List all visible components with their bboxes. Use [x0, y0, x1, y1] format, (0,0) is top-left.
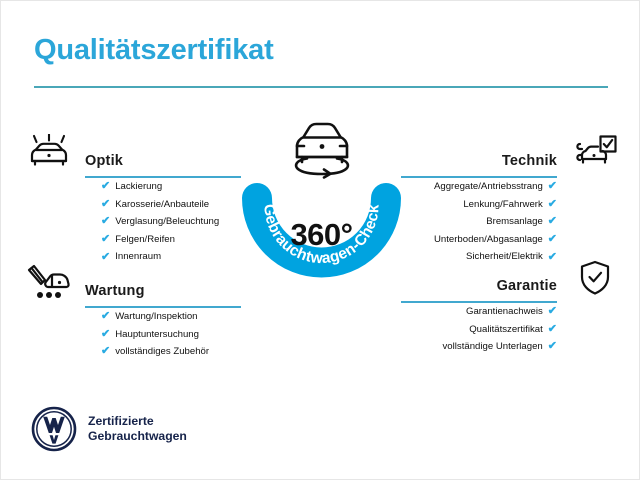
- section-divider-optik: [85, 176, 241, 178]
- section-header-technik: Technik: [401, 134, 619, 178]
- list-item-label: Wartung/Inspektion: [115, 308, 197, 326]
- list-item: ✔Hauptuntersuchung: [101, 326, 241, 344]
- vw-logo: [31, 406, 77, 452]
- list-item: ✔Lackierung: [101, 178, 241, 196]
- shield-check-icon: [571, 259, 619, 299]
- list-item: ✔Karosserie/Anbauteile: [101, 196, 241, 214]
- list-item: Garantienachweis✔: [401, 303, 557, 321]
- section-header-garantie: Garantie: [401, 259, 619, 303]
- list-item-label: Karosserie/Anbauteile: [115, 196, 209, 214]
- badge-center-label: 360°: [229, 217, 414, 253]
- list-item: Unterboden/Abgasanlage✔: [401, 231, 557, 249]
- check-icon: ✔: [101, 329, 110, 340]
- list-item-label: Lackierung: [115, 178, 162, 196]
- section-divider-garantie: [401, 301, 557, 303]
- check-icon: ✔: [101, 216, 110, 227]
- check-icon: ✔: [548, 324, 557, 335]
- certificate-page: Qualitätszertifikat: [0, 0, 640, 480]
- car-lift-checkbox-icon: [571, 134, 619, 174]
- section-header-optik: Optik: [23, 134, 241, 178]
- check-icon: ✔: [548, 341, 557, 352]
- section-divider-technik: [401, 176, 557, 178]
- gebrauchtwagen-check-badge: Gebrauchtwagen-Check: [229, 113, 414, 303]
- section-wartung: Wartung ✔Wartung/Inspektion ✔Hauptunters…: [23, 264, 241, 361]
- check-icon: ✔: [101, 181, 110, 192]
- list-item-label: Verglasung/Beleuchtung: [115, 213, 219, 231]
- list-item: Lenkung/Fahrwerk✔: [401, 196, 557, 214]
- check-icon: ✔: [548, 216, 557, 227]
- checklist-technik: Aggregate/Antriebsstrang✔ Lenkung/Fahrwe…: [401, 178, 557, 266]
- section-title-technik: Technik: [502, 153, 557, 169]
- check-icon: ✔: [101, 199, 110, 210]
- check-icon: ✔: [101, 311, 110, 322]
- list-item-label: Bremsanlage: [486, 213, 543, 231]
- check-icon: ✔: [548, 234, 557, 245]
- list-item: ✔Verglasung/Beleuchtung: [101, 213, 241, 231]
- check-icon: ✔: [548, 181, 557, 192]
- check-icon: ✔: [548, 199, 557, 210]
- title-divider: [34, 86, 608, 88]
- list-item: Bremsanlage✔: [401, 213, 557, 231]
- list-item: ✔vollständiges Zubehör: [101, 343, 241, 361]
- footer-brand: Zertifizierte Gebrauchtwagen: [31, 406, 187, 452]
- section-header-wartung: Wartung: [23, 264, 241, 308]
- section-garantie: Garantie Garantienachweis✔ Qualitätszert…: [401, 259, 619, 356]
- list-item: Qualitätszertifikat✔: [401, 321, 557, 339]
- section-optik: Optik ✔Lackierung ✔Karosserie/Anbauteile…: [23, 134, 241, 266]
- checklist-garantie: Garantienachweis✔ Qualitätszertifikat✔ v…: [401, 303, 557, 356]
- list-item: ✔Felgen/Reifen: [101, 231, 241, 249]
- list-item-label: Felgen/Reifen: [115, 231, 175, 249]
- checklist-optik: ✔Lackierung ✔Karosserie/Anbauteile ✔Verg…: [101, 178, 241, 266]
- section-divider-wartung: [85, 306, 241, 308]
- page-title: Qualitätszertifikat: [34, 33, 608, 67]
- list-item: Aggregate/Antriebsstrang✔: [401, 178, 557, 196]
- list-item: vollständige Unterlagen✔: [401, 338, 557, 356]
- list-item-label: vollständiges Zubehör: [115, 343, 209, 361]
- list-item-label: Qualitätszertifikat: [469, 321, 543, 339]
- list-item-label: vollständige Unterlagen: [443, 338, 543, 356]
- section-title-optik: Optik: [85, 153, 123, 169]
- footer-brand-label: Zertifizierte Gebrauchtwagen: [88, 414, 187, 445]
- section-title-wartung: Wartung: [85, 283, 145, 299]
- section-technik: Technik Aggregate/Antriebsstrang✔ Lenkun…: [401, 134, 619, 266]
- oil-can-service-icon: [25, 264, 73, 304]
- car-front-rotate-icon: [277, 113, 367, 181]
- check-icon: ✔: [101, 252, 110, 263]
- list-item: ✔Wartung/Inspektion: [101, 308, 241, 326]
- section-title-garantie: Garantie: [497, 278, 557, 294]
- check-icon: ✔: [548, 306, 557, 317]
- check-icon: ✔: [101, 234, 110, 245]
- list-item-label: Aggregate/Antriebsstrang: [434, 178, 543, 196]
- list-item-label: Garantienachweis: [466, 303, 543, 321]
- list-item-label: Hauptuntersuchung: [115, 326, 199, 344]
- car-shine-icon: [25, 134, 73, 174]
- checklist-wartung: ✔Wartung/Inspektion ✔Hauptuntersuchung ✔…: [101, 308, 241, 361]
- check-icon: ✔: [101, 346, 110, 357]
- title-block: Qualitätszertifikat: [34, 33, 608, 88]
- list-item-label: Lenkung/Fahrwerk: [463, 196, 542, 214]
- list-item-label: Unterboden/Abgasanlage: [434, 231, 543, 249]
